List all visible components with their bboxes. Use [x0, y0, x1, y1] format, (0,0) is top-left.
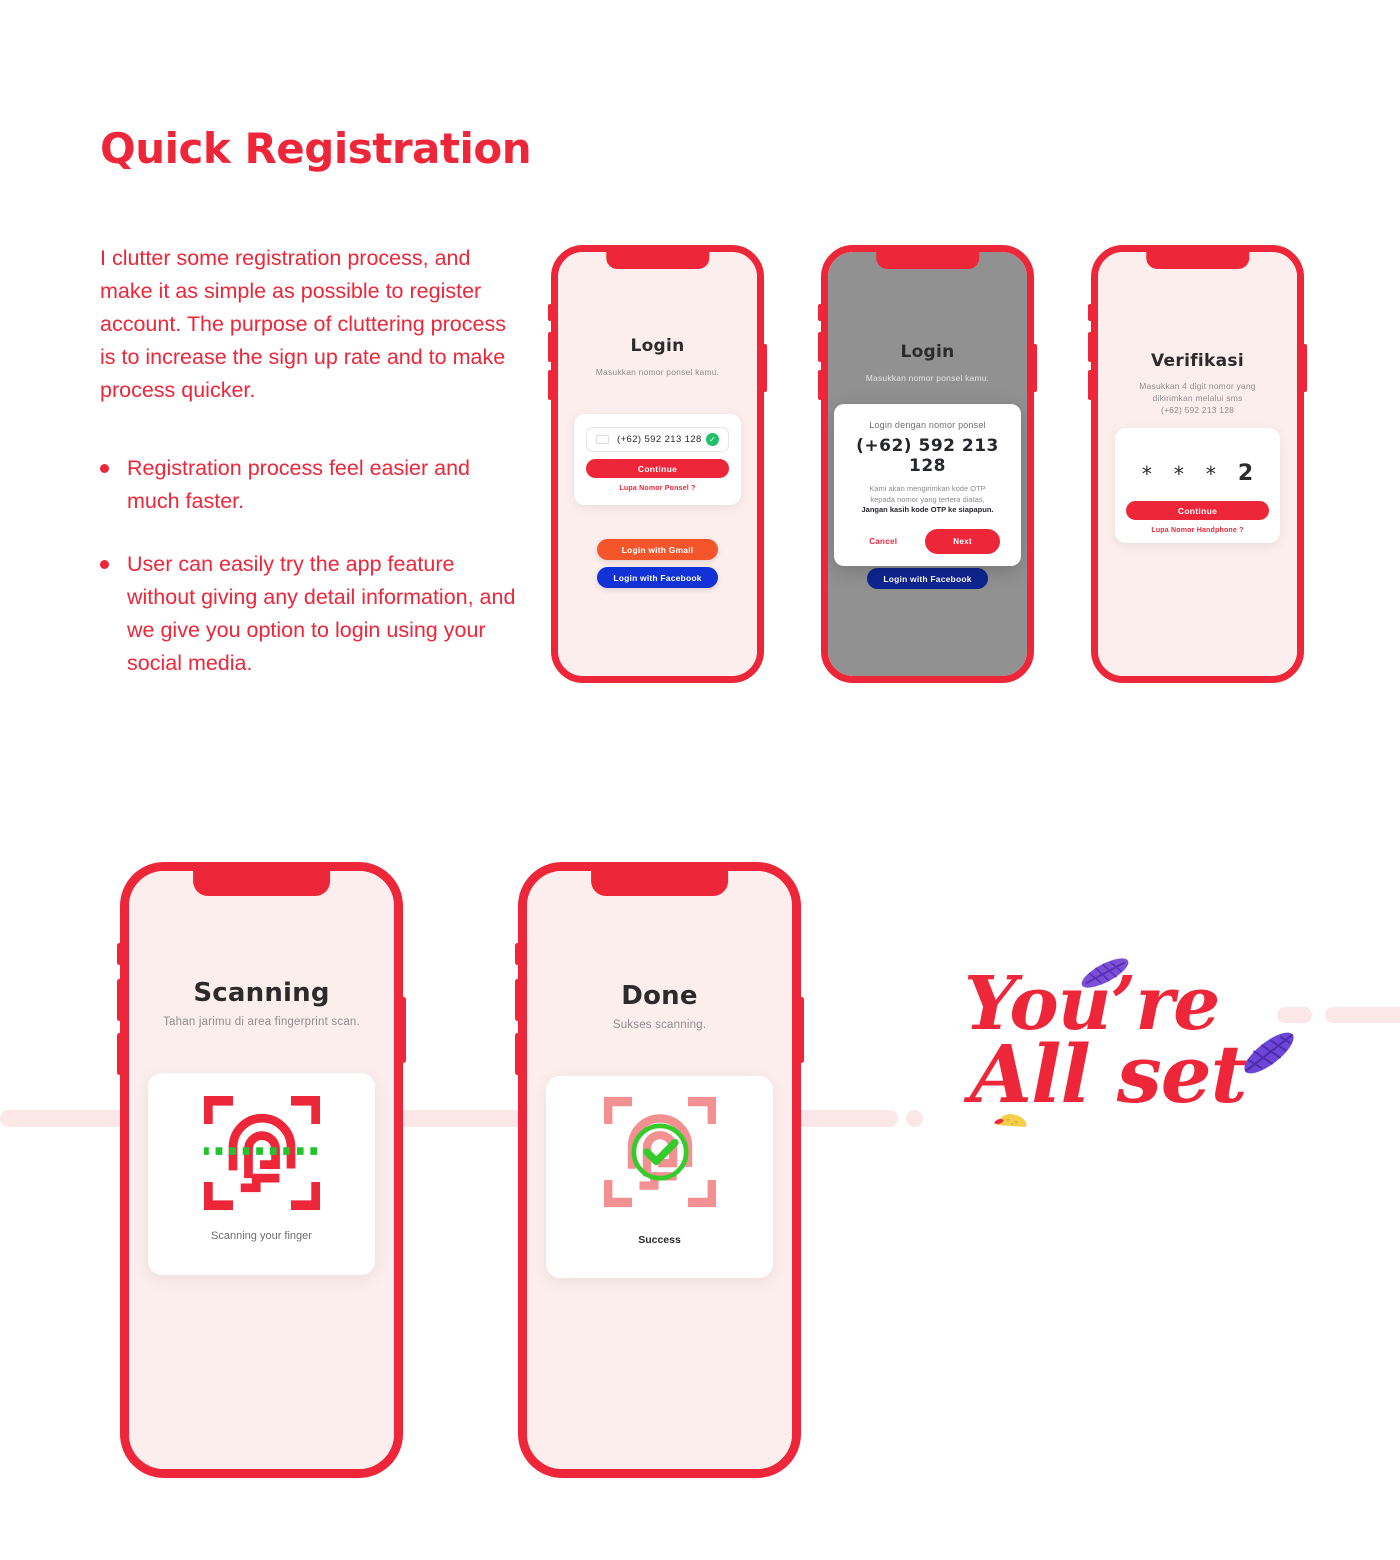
decorative-dot: [906, 1110, 923, 1127]
volume-up-button[interactable]: [117, 979, 122, 1021]
phone-input[interactable]: (+62) 592 213 128 ✓: [586, 427, 729, 452]
bullet-list: Registration process feel easier and muc…: [100, 452, 520, 710]
phone-notch: [1146, 252, 1249, 269]
otp-input-row[interactable]: * * * 2: [1115, 464, 1280, 484]
power-button[interactable]: [799, 997, 804, 1063]
poster-canvas: Quick Registration I clutter some regist…: [0, 0, 1400, 1560]
volume-up-button[interactable]: [548, 332, 552, 362]
continue-button[interactable]: Continue: [586, 459, 729, 478]
purple-leaf-top-icon: [1075, 953, 1135, 993]
phone-mockup-login: Login Masukkan nomor ponsel kamu. (+62) …: [551, 245, 764, 683]
done-card: Success: [546, 1076, 773, 1278]
volume-down-button[interactable]: [1088, 370, 1092, 400]
scanning-caption: Scanning your finger: [148, 1230, 375, 1242]
otp-char-1: *: [1142, 464, 1152, 484]
phone-notch: [876, 252, 979, 269]
phone-notch: [606, 252, 709, 269]
phone-input-value: (+62) 592 213 128: [617, 434, 702, 445]
volume-down-button[interactable]: [548, 370, 552, 400]
phone-mockup-scanning: Scanning Tahan jarimu di area fingerprin…: [120, 862, 403, 1478]
mute-switch[interactable]: [117, 943, 122, 965]
mute-switch[interactable]: [818, 304, 822, 321]
screen-login-dimmed: Login Masukkan nomor ponsel kamu. Login …: [828, 252, 1027, 676]
verification-title: Verifikasi: [1098, 351, 1297, 371]
power-button[interactable]: [763, 344, 767, 392]
volume-up-button[interactable]: [818, 332, 822, 362]
scanning-card: Scanning your finger: [148, 1073, 375, 1275]
cancel-button[interactable]: Cancel: [855, 531, 911, 552]
volume-down-button[interactable]: [515, 1033, 520, 1075]
phone-mockup-login-modal: Login Masukkan nomor ponsel kamu. Login …: [821, 245, 1034, 683]
login-subtitle: Masukkan nomor ponsel kamu.: [828, 372, 1027, 384]
power-button[interactable]: [1303, 344, 1307, 392]
login-subtitle: Masukkan nomor ponsel kamu.: [558, 366, 757, 378]
intro-paragraph: I clutter some registration process, and…: [100, 242, 510, 407]
done-caption: Success: [546, 1234, 773, 1246]
otp-char-3: *: [1206, 464, 1216, 484]
modal-body-text: Kami akan mengirimkan kode OTP kepada no…: [848, 484, 1007, 516]
screen-verification: Verifikasi Masukkan 4 digit nomor yang d…: [1098, 252, 1297, 676]
bullet-dot-icon: [100, 464, 109, 473]
decorative-dash-large: [1325, 1007, 1400, 1023]
facebook-login-button[interactable]: Login with Facebook: [867, 568, 988, 589]
verification-subtitle-line2: dikirimkan melalui sms: [1153, 393, 1243, 403]
volume-up-button[interactable]: [1088, 332, 1092, 362]
forgot-phone-link[interactable]: Lupa Nomor Handphone ?: [1115, 527, 1280, 534]
modal-lead-text: Login dengan nomor ponsel: [848, 420, 1007, 430]
modal-body-line1: Kami akan mengirimkan kode OTP: [869, 484, 985, 493]
power-button[interactable]: [401, 997, 406, 1063]
indonesia-flag-icon: [596, 435, 609, 444]
done-title: Done: [527, 981, 792, 1011]
screen-done: Done Sukses scanning. Success: [527, 871, 792, 1469]
purple-leaf-right-icon: [1234, 1023, 1304, 1083]
verification-subtitle-line3: (+62) 592 213 128: [1161, 405, 1234, 415]
otp-char-2: *: [1174, 464, 1184, 484]
next-button[interactable]: Next: [925, 529, 1000, 554]
bullet-text: Registration process feel easier and muc…: [127, 452, 520, 518]
modal-phone-number: (+62) 592 213 128: [848, 436, 1007, 476]
volume-up-button[interactable]: [515, 979, 520, 1021]
done-subtitle: Sukses scanning.: [527, 1019, 792, 1031]
login-title: Login: [558, 336, 757, 356]
continue-button[interactable]: Continue: [1126, 501, 1269, 520]
modal-body-line2: kepada nomor yang tertera diatas,: [870, 495, 984, 504]
phone-notch: [591, 871, 729, 896]
screen-scanning: Scanning Tahan jarimu di area fingerprin…: [129, 871, 394, 1469]
phone-mockup-done: Done Sukses scanning. Success: [518, 862, 801, 1478]
yellow-leaf-icon: [992, 1107, 1032, 1131]
facebook-login-button[interactable]: Login with Facebook: [597, 567, 718, 588]
login-card: (+62) 592 213 128 ✓ Continue Lupa Nomor …: [574, 414, 741, 505]
check-icon: ✓: [706, 433, 719, 446]
otp-confirm-modal: Login dengan nomor ponsel (+62) 592 213 …: [834, 404, 1021, 566]
otp-char-4: 2: [1238, 464, 1253, 484]
page-title: Quick Registration: [100, 124, 531, 173]
volume-down-button[interactable]: [818, 370, 822, 400]
mute-switch[interactable]: [1088, 304, 1092, 321]
youre-all-set-lettering: You’re All set: [960, 965, 1310, 1145]
modal-actions: Cancel Next: [848, 529, 1007, 554]
modal-body-warning: Jangan kasih kode OTP ke siapapun.: [862, 505, 994, 514]
list-item: User can easily try the app feature with…: [100, 548, 520, 680]
verification-subtitle: Masukkan 4 digit nomor yang dikirimkan m…: [1098, 380, 1297, 416]
verification-subtitle-line1: Masukkan 4 digit nomor yang: [1139, 381, 1255, 391]
power-button[interactable]: [1033, 344, 1037, 392]
phone-mockup-verification: Verifikasi Masukkan 4 digit nomor yang d…: [1091, 245, 1304, 683]
fingerprint-scan-icon: [204, 1095, 320, 1211]
mute-switch[interactable]: [515, 943, 520, 965]
scanning-subtitle: Tahan jarimu di area fingerprint scan.: [129, 1016, 394, 1028]
login-title: Login: [828, 342, 1027, 362]
mute-switch[interactable]: [548, 304, 552, 321]
volume-down-button[interactable]: [117, 1033, 122, 1075]
screen-login: Login Masukkan nomor ponsel kamu. (+62) …: [558, 252, 757, 676]
forgot-phone-link[interactable]: Lupa Nomor Ponsel ?: [574, 485, 741, 492]
bullet-dot-icon: [100, 560, 109, 569]
list-item: Registration process feel easier and muc…: [100, 452, 520, 518]
bullet-text: User can easily try the app feature with…: [127, 548, 520, 680]
otp-card: * * * 2 Continue Lupa Nomor Handphone ?: [1115, 428, 1280, 543]
gmail-login-button[interactable]: Login with Gmail: [597, 539, 718, 560]
scanning-title: Scanning: [129, 978, 394, 1008]
fingerprint-success-icon: [604, 1096, 716, 1208]
phone-notch: [193, 871, 331, 896]
